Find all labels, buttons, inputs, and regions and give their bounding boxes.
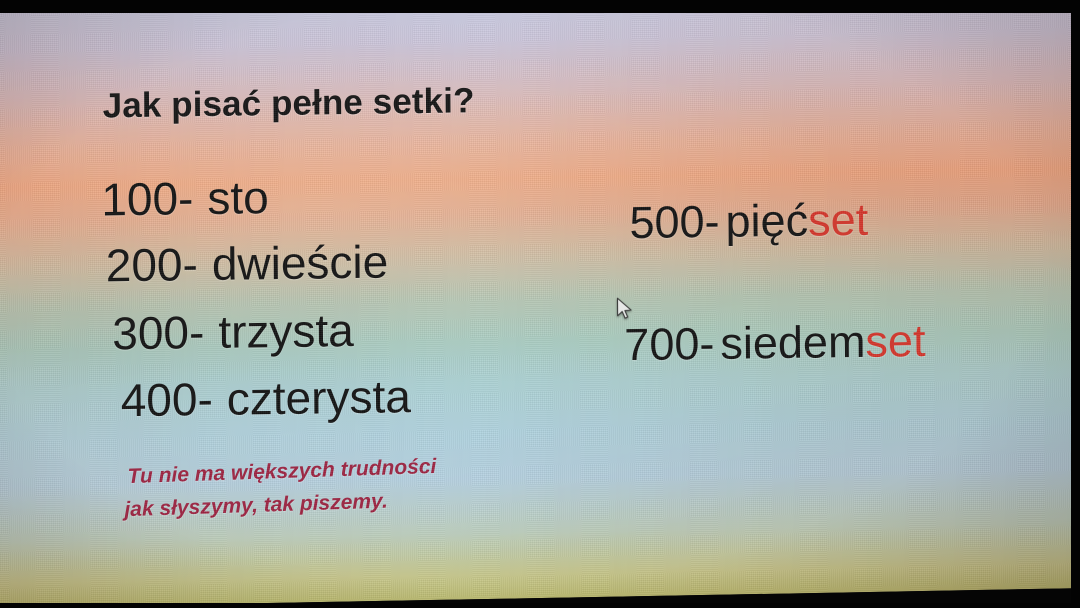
number-label-200: 200- bbox=[106, 238, 198, 291]
number-label-700: 700- bbox=[624, 318, 714, 370]
number-row-500: 500-pięćset bbox=[629, 194, 868, 249]
number-row-400: 400-czterysta bbox=[121, 369, 411, 427]
photographed-screen: Jak pisać pełne setki? 100-sto 200-dwieś… bbox=[0, 0, 1080, 608]
slide-title: Jak pisać pełne setki? bbox=[103, 81, 475, 126]
number-word-400: czterysta bbox=[227, 370, 411, 425]
number-word-300: trzysta bbox=[218, 304, 354, 358]
number-word-500: pięć bbox=[725, 195, 808, 247]
number-label-300: 300- bbox=[112, 306, 204, 359]
number-row-300: 300-trzysta bbox=[112, 303, 354, 360]
number-word-100: sto bbox=[207, 171, 269, 224]
presentation-slide: Jak pisać pełne setki? 100-sto 200-dwieś… bbox=[0, 0, 1080, 608]
slide-footnote: Tu nie ma większych trudności jak słyszy… bbox=[127, 451, 437, 526]
number-row-200: 200-dwieście bbox=[106, 234, 389, 292]
number-word-200: dwieście bbox=[212, 235, 389, 289]
slide-content: Jak pisać pełne setki? 100-sto 200-dwieś… bbox=[0, 0, 1080, 608]
number-suffix-700: set bbox=[865, 315, 925, 367]
number-label-100: 100- bbox=[101, 172, 193, 225]
number-label-400: 400- bbox=[121, 373, 213, 426]
number-word-700: siedem bbox=[720, 316, 865, 369]
number-label-500: 500- bbox=[629, 196, 719, 248]
number-row-700: 700-siedemset bbox=[624, 315, 926, 371]
number-suffix-500: set bbox=[808, 194, 868, 246]
mouse-pointer-arrow-icon bbox=[616, 297, 634, 321]
number-row-100: 100-sto bbox=[101, 170, 269, 226]
